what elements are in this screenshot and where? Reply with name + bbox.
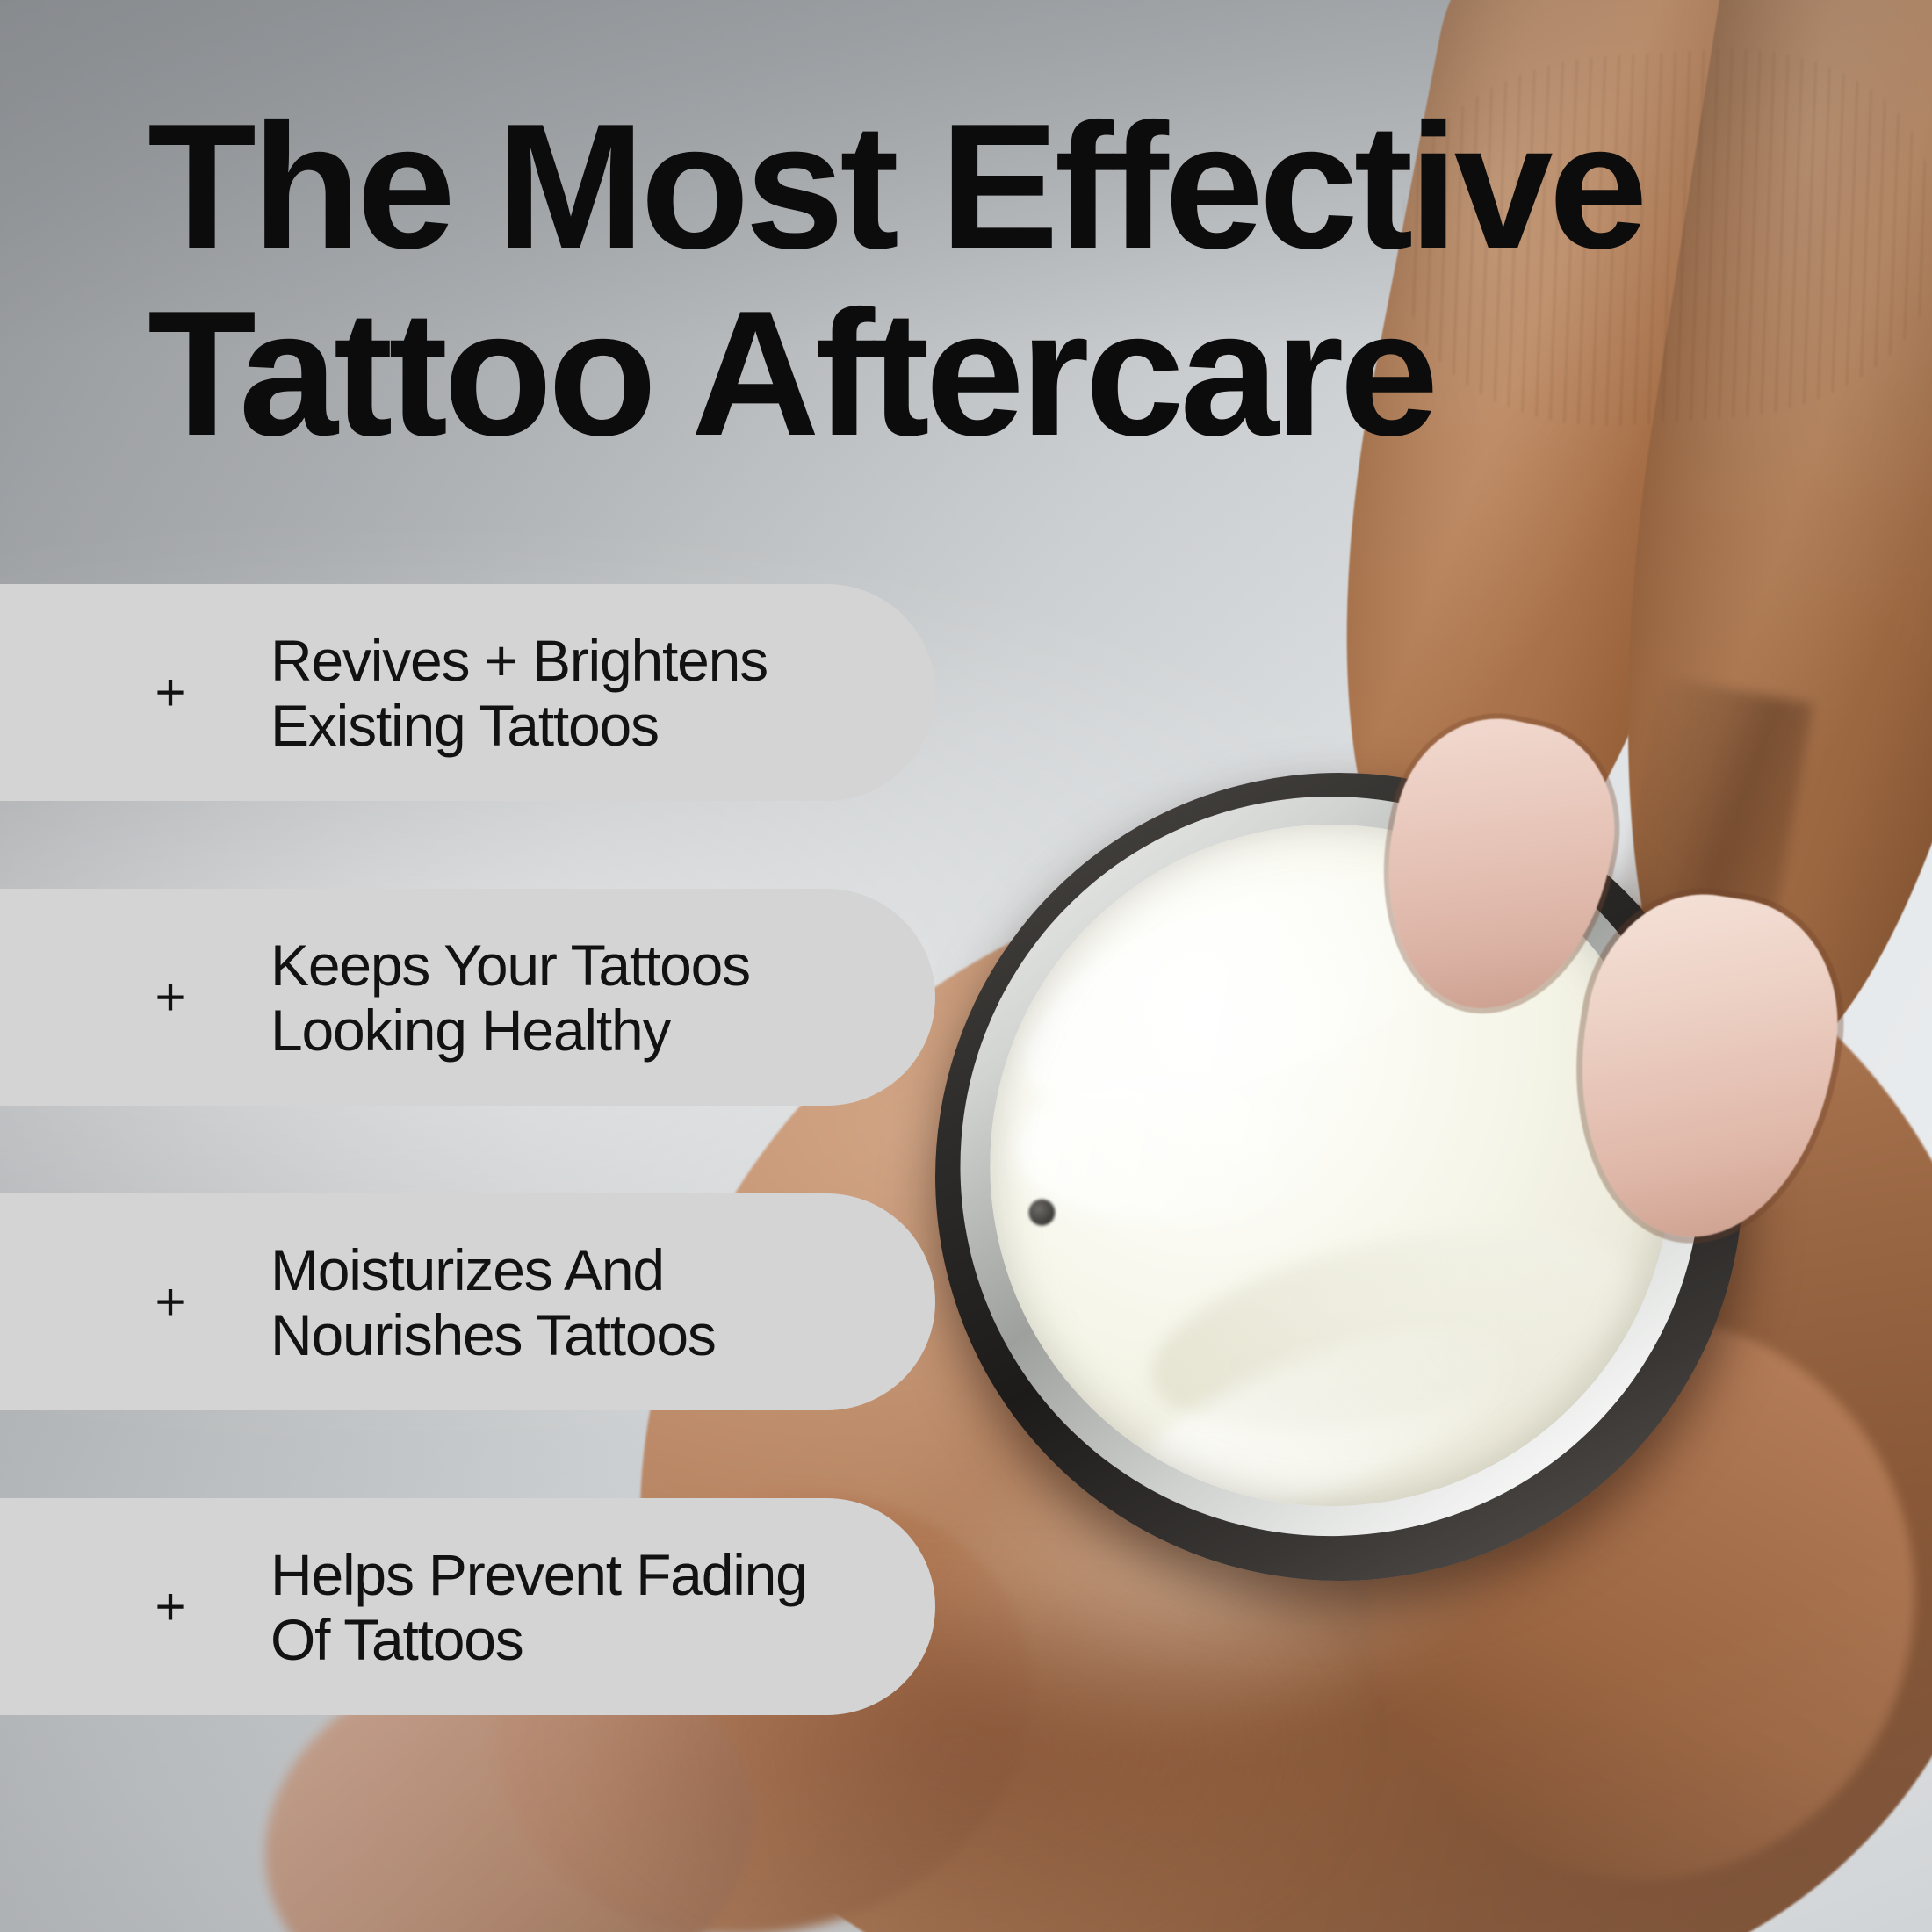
feature-pill-healthy: + Keeps Your Tattoos Looking Healthy: [0, 889, 935, 1106]
plus-icon: +: [155, 1591, 186, 1623]
poster-canvas: The Most Effective Tattoo Aftercare + Re…: [0, 0, 1932, 1932]
plus-icon: +: [155, 677, 186, 709]
feature-label: Keeps Your Tattoos Looking Healthy: [270, 933, 750, 1063]
plus-icon: +: [155, 1287, 186, 1318]
page-title: The Most Effective Tattoo Aftercare: [148, 93, 1772, 467]
feature-label: Revives + Brightens Existing Tattoos: [270, 628, 768, 758]
feature-pill-fading: + Helps Prevent Fading Of Tattoos: [0, 1498, 935, 1715]
plus-icon: +: [155, 982, 186, 1013]
feature-label: Moisturizes And Nourishes Tattoos: [270, 1237, 716, 1367]
feature-list: + Revives + Brightens Existing Tattoos +…: [0, 584, 966, 1715]
feature-label: Helps Prevent Fading Of Tattoos: [270, 1542, 807, 1672]
feature-pill-revives: + Revives + Brightens Existing Tattoos: [0, 584, 935, 801]
feature-pill-moisturizes: + Moisturizes And Nourishes Tattoos: [0, 1193, 935, 1410]
